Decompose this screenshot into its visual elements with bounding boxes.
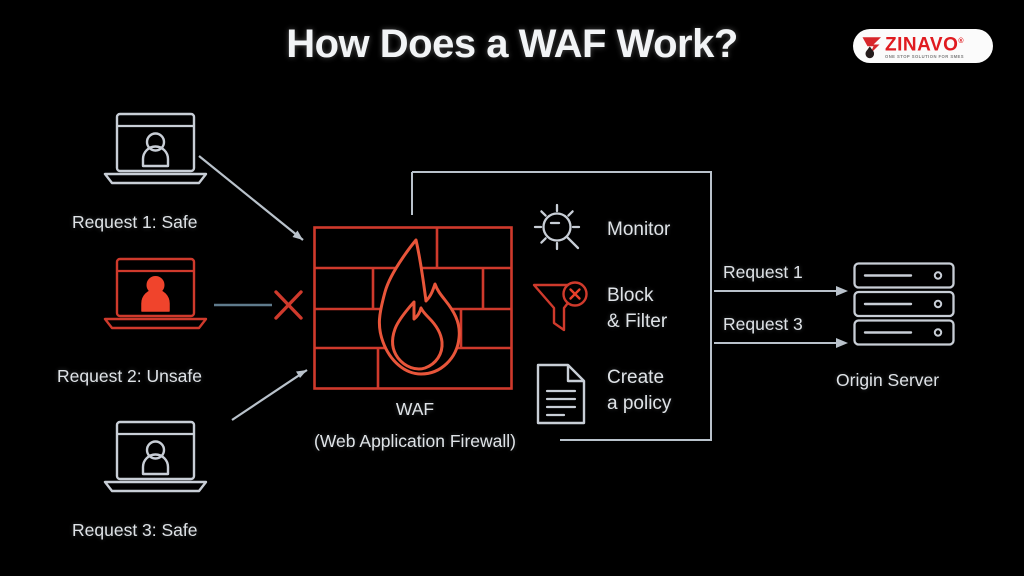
funnel-block-filter-icon [530, 278, 592, 340]
feature-block-filter-label-line2: & Filter [607, 310, 667, 334]
feature-monitor-label: Monitor [607, 218, 670, 242]
waf-subtitle: (Web Application Firewall) [280, 431, 550, 452]
arrow-request1-to-waf [199, 156, 303, 240]
firewall-brick-flame-icon [313, 226, 513, 390]
laptop-user-icon [103, 110, 208, 190]
feature-create-policy [534, 362, 592, 426]
server-rack-icon [853, 262, 955, 346]
forwarded-request-3-label: Request 3 [723, 314, 803, 335]
arrow-request3-to-waf [232, 370, 307, 420]
client-request-2 [103, 255, 208, 335]
magnifier-monitor-icon [528, 199, 590, 261]
document-policy-icon [534, 362, 592, 426]
feature-block-filter [530, 278, 592, 340]
laptop-user-icon [103, 255, 208, 335]
origin-server [853, 262, 955, 346]
origin-server-label: Origin Server [836, 370, 939, 391]
arrow-forward-request1 [714, 286, 848, 296]
feature-create-policy-label-line1: Create [607, 366, 664, 390]
feature-monitor [528, 199, 590, 261]
client-request-3-label: Request 3: Safe [72, 520, 198, 541]
client-request-1 [103, 110, 208, 190]
client-request-3 [103, 418, 208, 498]
laptop-user-icon [103, 418, 208, 498]
forwarded-request-1-label: Request 1 [723, 262, 803, 283]
arrow-forward-request3 [714, 338, 848, 348]
waf-diagram-canvas: How Does a WAF Work? ZINAVO® ONE STOP SO… [0, 0, 1024, 576]
x-mark-icon [276, 292, 301, 318]
client-request-1-label: Request 1: Safe [72, 212, 198, 233]
feature-create-policy-label-line2: a policy [607, 392, 671, 416]
waf-firewall [313, 226, 513, 390]
waf-title: WAF [320, 399, 510, 420]
client-request-2-label: Request 2: Unsafe [57, 366, 202, 387]
feature-block-filter-label-line1: Block [607, 284, 653, 308]
